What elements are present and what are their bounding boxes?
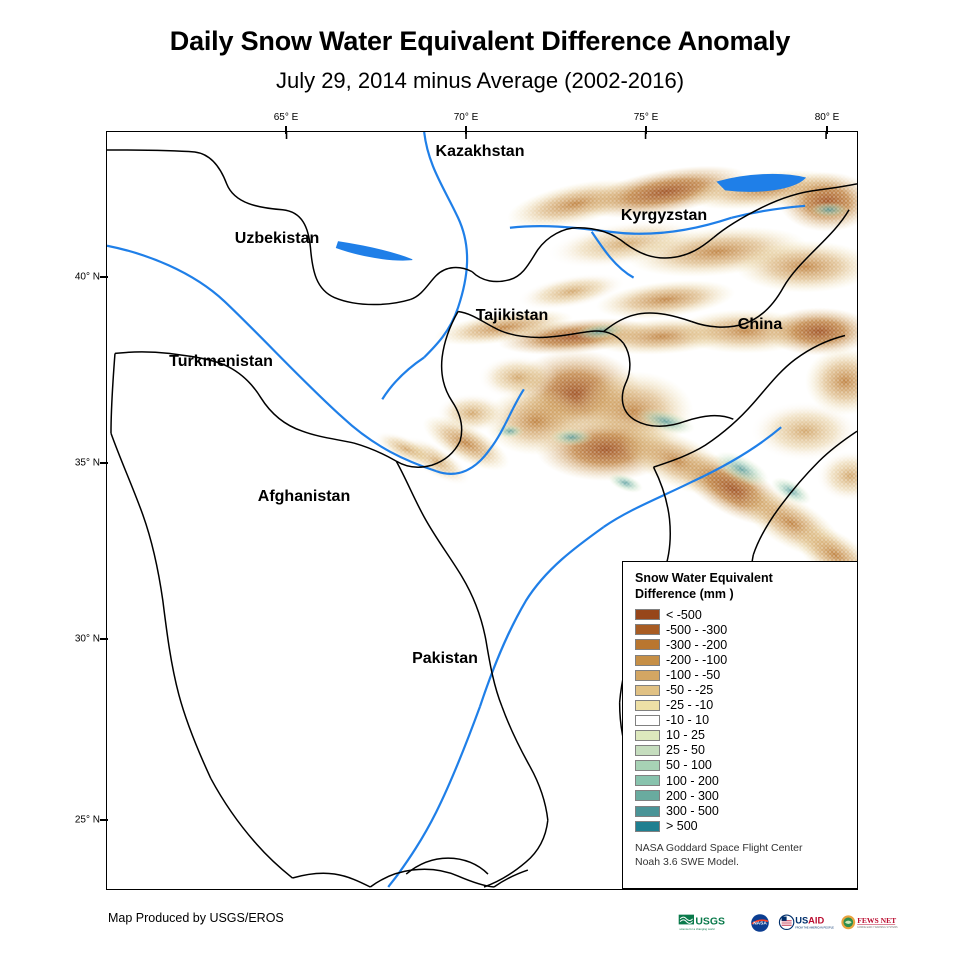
legend-swatch: [635, 775, 660, 786]
legend-title-line2: Difference (mm ): [635, 587, 847, 603]
legend-swatch: [635, 670, 660, 681]
lat-tick-label-2: 30° N: [62, 634, 100, 645]
legend-title: Snow Water Equivalent Difference (mm ): [635, 571, 847, 602]
legend-label: -200 - -100: [666, 654, 727, 667]
svg-text:FROM THE AMERICAN PEOPLE: FROM THE AMERICAN PEOPLE: [795, 926, 834, 930]
lat-tick-mark-1: [100, 462, 108, 464]
legend-label: 200 - 300: [666, 790, 719, 803]
legend-label: -300 - -200: [666, 639, 727, 652]
lat-tick-label-0: 40° N: [62, 272, 100, 283]
legend-swatch: [635, 760, 660, 771]
svg-text:FAMINE EARLY WARNING SYSTEMS N: FAMINE EARLY WARNING SYSTEMS NETWORK: [857, 926, 898, 929]
legend-swatch: [635, 745, 660, 756]
map-poster: Daily Snow Water Equivalent Difference A…: [0, 0, 960, 960]
svg-text:US: US: [795, 916, 808, 926]
legend-row: 25 - 50: [635, 743, 847, 758]
agency-logo-strip: USGS science for a changing world NASA U…: [678, 908, 898, 938]
legend-row: -500 - -300: [635, 622, 847, 637]
nasa-logo: NASA: [748, 910, 772, 936]
legend-label: 50 - 100: [666, 759, 712, 772]
legend-row: 300 - 500: [635, 803, 847, 818]
legend-label: 25 - 50: [666, 744, 705, 757]
fewsnet-logo: FEWS NET FAMINE EARLY WARNING SYSTEMS NE…: [840, 910, 898, 936]
svg-text:AID: AID: [808, 916, 824, 926]
lon-tick-mark-3: [826, 126, 828, 134]
page-subtitle: July 29, 2014 minus Average (2002-2016): [0, 68, 960, 94]
usgs-logo: USGS science for a changing world: [678, 910, 742, 936]
legend-swatch: [635, 806, 660, 817]
legend-panel: Snow Water Equivalent Difference (mm ) <…: [622, 561, 858, 889]
legend-label: -100 - -50: [666, 669, 720, 682]
lon-tick-mark-1: [465, 126, 467, 134]
legend-source-note: NASA Goddard Space Flight Center Noah 3.…: [635, 841, 847, 869]
legend-row: 10 - 25: [635, 728, 847, 743]
legend-label: -500 - -300: [666, 624, 727, 637]
legend-row: -25 - -10: [635, 698, 847, 713]
legend-swatch: [635, 715, 660, 726]
lon-tick-mark-0: [285, 126, 287, 134]
legend-swatch: [635, 624, 660, 635]
lat-tick-mark-3: [100, 819, 108, 821]
legend-swatch: [635, 609, 660, 620]
svg-text:FEWS NET: FEWS NET: [857, 916, 896, 925]
legend-label: 10 - 25: [666, 729, 705, 742]
svg-text:NASA: NASA: [753, 921, 767, 927]
lon-tick-label-3: 80° E: [815, 112, 840, 123]
legend-swatch: [635, 639, 660, 650]
legend-row: -200 - -100: [635, 653, 847, 668]
page-title: Daily Snow Water Equivalent Difference A…: [0, 26, 960, 57]
lat-tick-label-1: 35° N: [62, 458, 100, 469]
lat-tick-label-3: 25° N: [62, 815, 100, 826]
legend-swatch: [635, 655, 660, 666]
legend-swatch: [635, 730, 660, 741]
legend-row: > 500: [635, 819, 847, 834]
legend-row: -50 - -25: [635, 683, 847, 698]
map-credit: Map Produced by USGS/EROS: [108, 911, 284, 925]
svg-text:science for a changing world: science for a changing world: [679, 927, 715, 931]
legend-title-line1: Snow Water Equivalent: [635, 571, 847, 587]
usaid-logo: US AID FROM THE AMERICAN PEOPLE: [778, 910, 834, 936]
legend-swatch: [635, 700, 660, 711]
legend-swatch: [635, 685, 660, 696]
legend-row: 50 - 100: [635, 758, 847, 773]
legend-label: > 500: [666, 820, 698, 833]
lon-tick-label-0: 65° E: [274, 112, 299, 123]
legend-row: -300 - -200: [635, 637, 847, 652]
legend-row: 100 - 200: [635, 773, 847, 788]
legend-row: 200 - 300: [635, 788, 847, 803]
legend-swatch: [635, 821, 660, 832]
lon-tick-label-2: 75° E: [634, 112, 659, 123]
lat-tick-mark-2: [100, 638, 108, 640]
legend-label: < -500: [666, 609, 702, 622]
legend-row: -10 - 10: [635, 713, 847, 728]
lon-tick-label-1: 70° E: [454, 112, 479, 123]
legend-label: 100 - 200: [666, 775, 719, 788]
legend-swatch: [635, 790, 660, 801]
legend-row: -100 - -50: [635, 668, 847, 683]
legend-label: -50 - -25: [666, 684, 713, 697]
lon-tick-mark-2: [645, 126, 647, 134]
legend-row: < -500: [635, 607, 847, 622]
svg-text:USGS: USGS: [695, 916, 725, 927]
legend-label: -10 - 10: [666, 714, 709, 727]
lat-tick-mark-0: [100, 276, 108, 278]
legend-label: 300 - 500: [666, 805, 719, 818]
legend-label: -25 - -10: [666, 699, 713, 712]
legend-entry-list: < -500-500 - -300-300 - -200-200 - -100-…: [635, 607, 847, 833]
